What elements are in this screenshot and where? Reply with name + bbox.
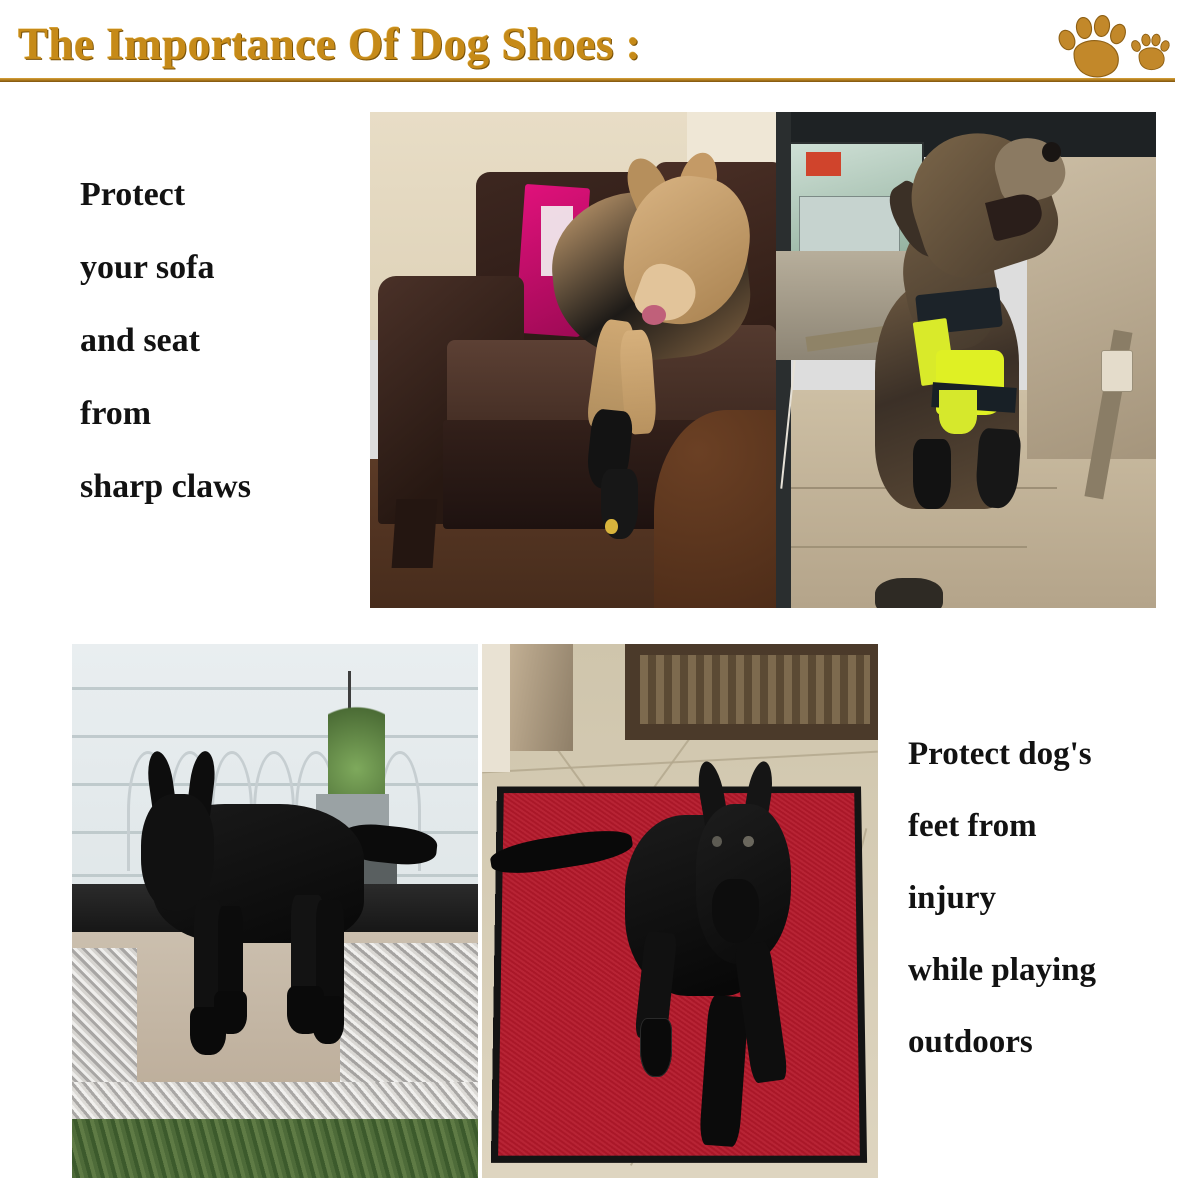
callout-right-line-5: outdoors — [908, 1006, 1198, 1078]
window-truck-outside — [799, 196, 900, 258]
siding-seam — [72, 687, 478, 690]
callout-right-line-1: Protect dog's — [908, 718, 1198, 790]
dog-boot-tag — [605, 519, 617, 534]
dog-boot-1 — [640, 1018, 672, 1077]
header-divider — [0, 78, 1175, 82]
dog-boot-2 — [214, 991, 246, 1034]
photo-dog-outdoors — [72, 644, 478, 1178]
dog-eye-right — [743, 836, 753, 847]
sofa-leg — [392, 499, 437, 568]
lawn-grass — [72, 1119, 478, 1178]
callout-right-line-4: while playing — [908, 934, 1198, 1006]
door-pillar — [776, 112, 791, 608]
scene-yard — [72, 644, 478, 1178]
harness-panel-lower — [939, 390, 977, 435]
dog-snout — [712, 879, 760, 943]
callout-right: Protect dog's feet from injury while pla… — [908, 718, 1198, 1078]
callout-left-line-4: from — [80, 377, 350, 450]
paw-prints-svg — [1032, 6, 1172, 82]
white-gravel-right — [340, 943, 478, 1103]
wall-edge — [482, 644, 510, 772]
scene-sofa — [370, 112, 776, 608]
callout-left-line-1: Protect — [80, 158, 350, 231]
paw-print-icon — [1056, 15, 1128, 77]
infographic-page: The Importance Of Dog Shoes : — [0, 0, 1200, 1200]
header: The Importance Of Dog Shoes : — [0, 0, 1200, 92]
callout-right-line-3: injury — [908, 862, 1198, 934]
scene-car — [776, 112, 1156, 608]
seat-seam-2 — [791, 546, 1027, 548]
callout-left-line-2: your sofa — [80, 231, 350, 304]
dog-eye-left — [712, 836, 722, 847]
potted-plant — [328, 687, 385, 804]
dog-boot-4 — [312, 996, 344, 1044]
callout-left-line-3: and seat — [80, 304, 350, 377]
dog-boot-1 — [913, 439, 951, 508]
dog-head — [141, 794, 214, 911]
callout-left-line-5: sharp claws — [80, 450, 350, 523]
page-title: The Importance Of Dog Shoes : — [18, 18, 641, 70]
dog-nose — [1042, 142, 1061, 162]
siding-seam — [72, 735, 478, 738]
photo-dog-in-car — [776, 112, 1156, 608]
seat-belt-buckle — [1101, 350, 1133, 392]
window-sticker — [806, 152, 840, 177]
photo-dog-on-mat — [482, 644, 878, 1178]
paw-print-group — [1032, 6, 1172, 82]
area-rug-pattern — [640, 655, 870, 724]
callout-right-line-2: feet from — [908, 790, 1198, 862]
paw-print-small-icon — [1130, 34, 1171, 70]
seat-base-hardware — [875, 578, 943, 608]
callout-left: Protect your sofa and seat from sharp cl… — [80, 158, 350, 523]
curtain — [502, 644, 573, 751]
photo-dog-on-sofa — [370, 112, 776, 608]
scene-mat — [482, 644, 878, 1178]
